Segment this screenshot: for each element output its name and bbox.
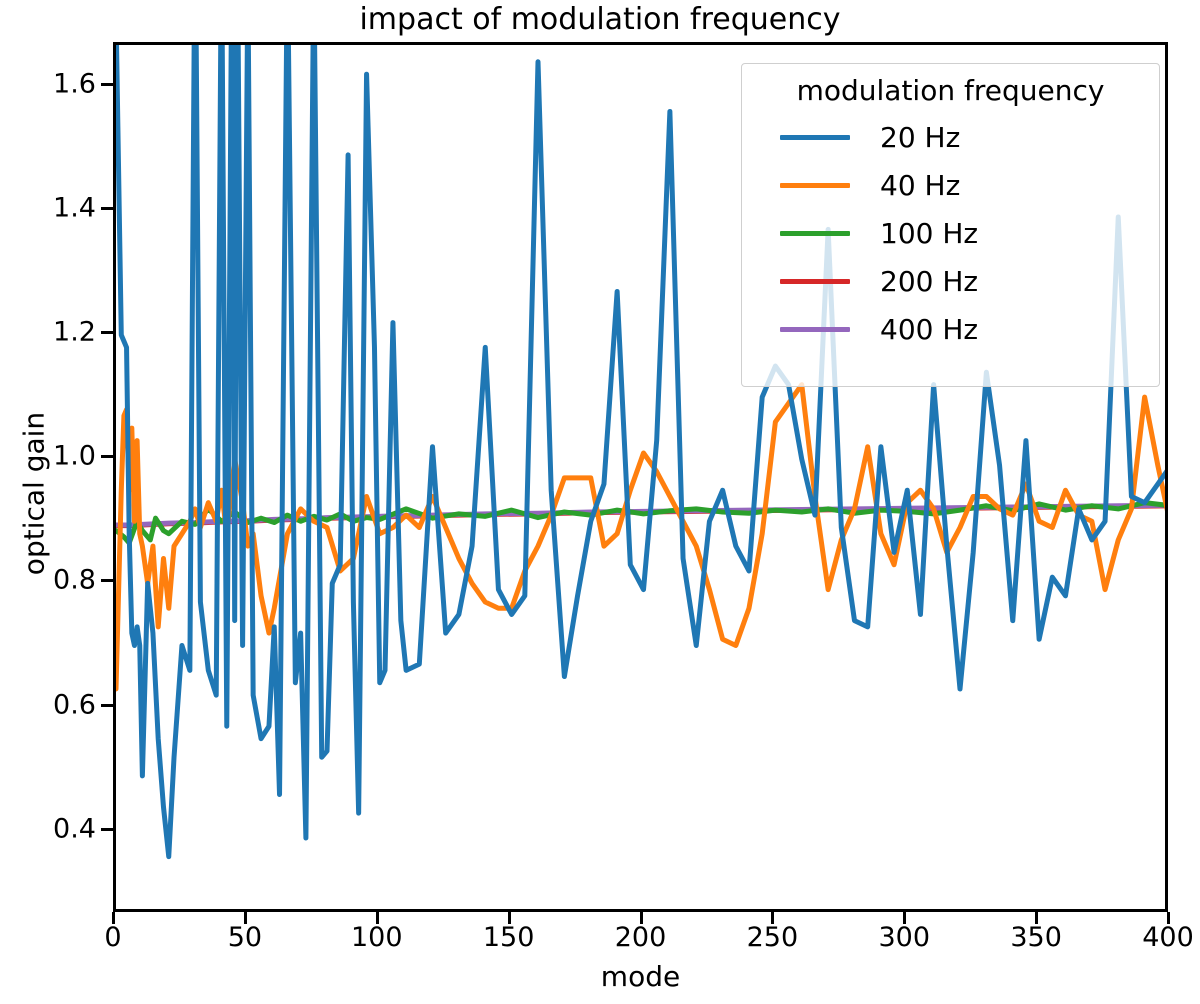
x-tick-mark: [903, 912, 906, 924]
y-tick-mark: [101, 83, 113, 86]
legend-color-swatch: [780, 279, 850, 284]
legend-title: modulation frequency: [752, 74, 1149, 107]
legend-color-swatch: [780, 183, 850, 188]
legend-entry[interactable]: 200 Hz: [752, 257, 1149, 305]
legend-label: 40 Hz: [880, 169, 960, 202]
x-tick-mark: [1167, 912, 1170, 924]
legend-label: 200 Hz: [880, 265, 978, 298]
y-tick-label: 1.0: [6, 441, 96, 472]
x-tick-label: 150: [449, 922, 569, 953]
y-tick-label: 0.6: [6, 689, 96, 720]
legend-entries: 20 Hz40 Hz100 Hz200 Hz400 Hz: [752, 113, 1149, 353]
x-tick-label: 200: [581, 922, 701, 953]
x-tick-mark: [244, 912, 247, 924]
legend-color-swatch: [780, 327, 850, 332]
x-tick-mark: [640, 912, 643, 924]
y-tick-label: 1.2: [6, 317, 96, 348]
x-tick-mark: [1035, 912, 1038, 924]
x-tick-mark: [376, 912, 379, 924]
legend-entry[interactable]: 100 Hz: [752, 209, 1149, 257]
legend-entry[interactable]: 400 Hz: [752, 305, 1149, 353]
legend-label: 100 Hz: [880, 217, 978, 250]
x-tick-label: 0: [53, 922, 173, 953]
legend-label: 400 Hz: [880, 313, 978, 346]
y-tick-mark: [101, 828, 113, 831]
y-tick-label: 1.4: [6, 192, 96, 223]
x-tick-label: 100: [317, 922, 437, 953]
y-tick-mark: [101, 579, 113, 582]
x-axis-label: mode: [113, 960, 1168, 993]
legend-entry[interactable]: 40 Hz: [752, 161, 1149, 209]
legend-color-swatch: [780, 231, 850, 236]
x-tick-mark: [508, 912, 511, 924]
x-tick-mark: [112, 912, 115, 924]
series-line-100-hz: [116, 503, 1168, 543]
y-tick-label: 0.8: [6, 565, 96, 596]
x-tick-label: 50: [185, 922, 305, 953]
y-tick-mark: [101, 207, 113, 210]
x-tick-mark: [771, 912, 774, 924]
y-tick-mark: [101, 455, 113, 458]
x-tick-label: 300: [844, 922, 964, 953]
x-tick-label: 400: [1108, 922, 1200, 953]
y-tick-mark: [101, 331, 113, 334]
legend: modulation frequency 20 Hz40 Hz100 Hz200…: [741, 63, 1160, 387]
y-tick-label: 0.4: [6, 813, 96, 844]
x-tick-label: 350: [976, 922, 1096, 953]
y-tick-label: 1.6: [6, 68, 96, 99]
x-tick-label: 250: [712, 922, 832, 953]
legend-color-swatch: [780, 135, 850, 140]
legend-entry[interactable]: 20 Hz: [752, 113, 1149, 161]
page-title: impact of modulation frequency: [0, 2, 1200, 37]
y-tick-mark: [101, 704, 113, 707]
legend-label: 20 Hz: [880, 121, 960, 154]
